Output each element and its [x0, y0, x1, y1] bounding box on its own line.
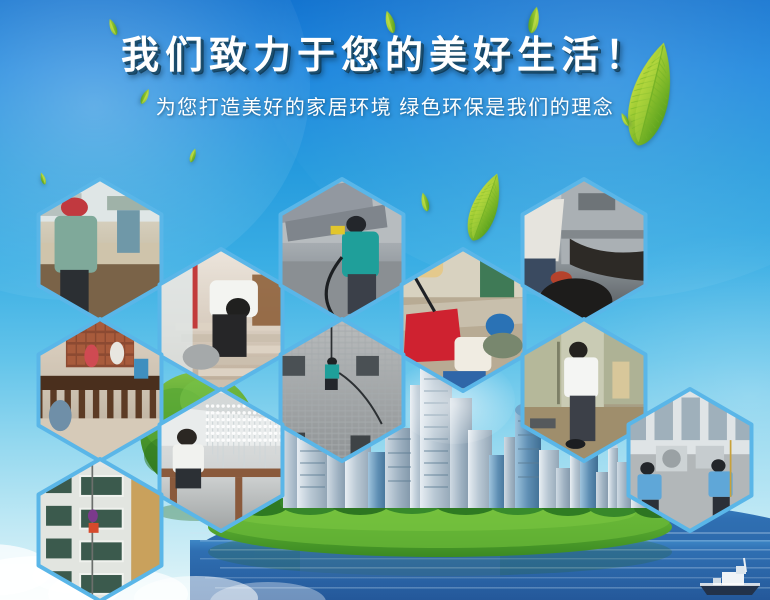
hex-tile-stair-cleaning[interactable] — [150, 249, 292, 391]
hex-tile-kitchen-hood[interactable] — [513, 179, 655, 324]
hex-tile-facade-rope[interactable] — [271, 319, 413, 463]
hex-tile-duct-cleaning[interactable] — [271, 179, 413, 321]
page-subtitle: 为您打造美好的家居环境 绿色环保是我们的理念 — [0, 91, 770, 120]
hex-tile-handrail-polish[interactable] — [29, 319, 171, 461]
headline-block: 我们致力于您的美好生活！ 为您打造美好的家居环境 绿色环保是我们的理念 — [0, 36, 770, 120]
hex-tile-chandelier-clean[interactable] — [150, 389, 292, 531]
hex-tile-carpet-machine[interactable] — [392, 249, 534, 391]
page-title: 我们致力于您的美好生活！ — [0, 36, 770, 78]
hex-tile-high-rise-wash[interactable] — [29, 459, 171, 600]
promo-banner: 我们致力于您的美好生活！ 为您打造美好的家居环境 绿色环保是我们的理念 — [0, 0, 770, 600]
hex-tile-demolition-worker[interactable] — [29, 179, 171, 321]
